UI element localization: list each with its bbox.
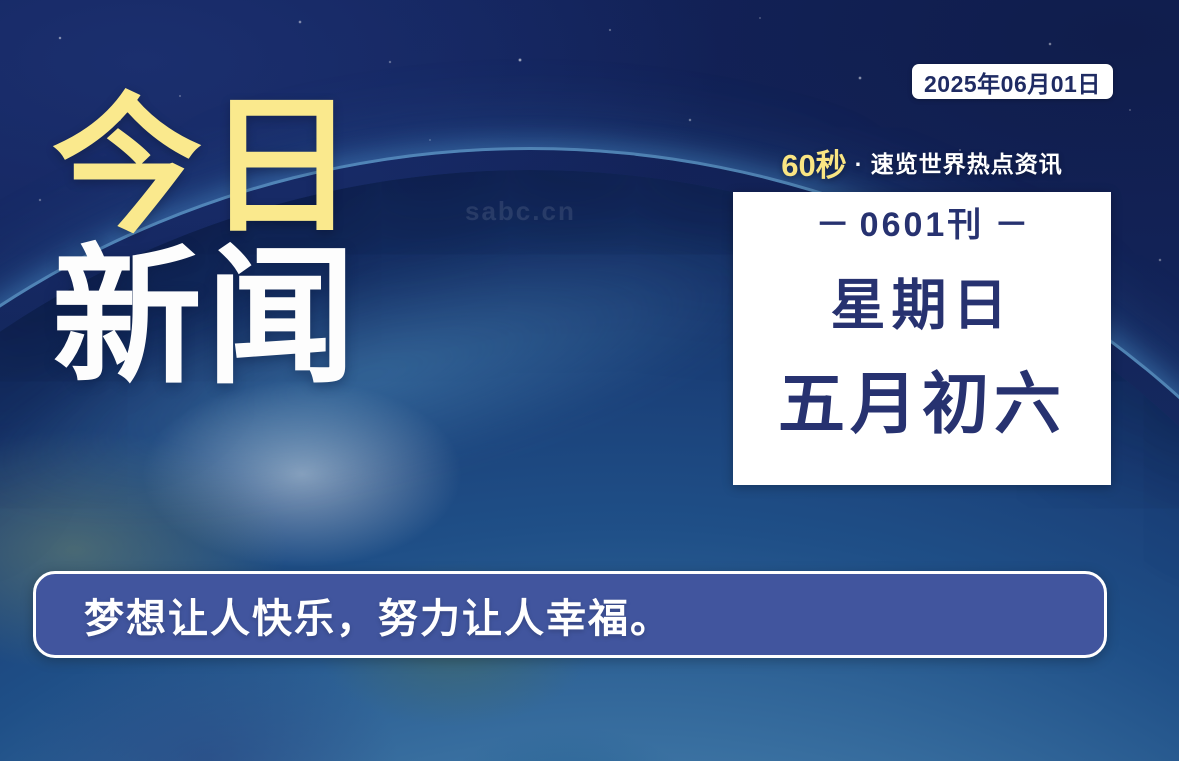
news-poster: sabc.cn 今日 新闻 2025年06月01日 60秒 · 速览世界热点资讯…	[0, 0, 1179, 761]
issue-line: －0601刊－	[806, 208, 1039, 242]
quote-banner: 梦想让人快乐，努力让人幸福。	[33, 571, 1107, 658]
lunar-date-label: 五月初六	[778, 371, 1066, 438]
tagline: 60秒 · 速览世界热点资讯	[733, 140, 1111, 184]
title-line-2: 新闻	[52, 247, 482, 388]
issue-dash-right: －	[984, 206, 1038, 244]
issue-dash-left: －	[806, 206, 860, 244]
title-line-1: 今日	[52, 96, 482, 237]
tagline-highlight: 60秒	[781, 140, 846, 185]
quote-text: 梦想让人快乐，努力让人幸福。	[84, 586, 672, 644]
issue-number: 0601刊	[860, 206, 985, 244]
date-badge: 2025年06月01日	[912, 64, 1113, 99]
weekday-label: 星期日	[830, 278, 1013, 333]
info-card: －0601刊－ 星期日 五月初六	[733, 192, 1111, 485]
tagline-rest: · 速览世界热点资讯	[855, 145, 1063, 179]
poster-title: 今日 新闻	[52, 96, 482, 388]
